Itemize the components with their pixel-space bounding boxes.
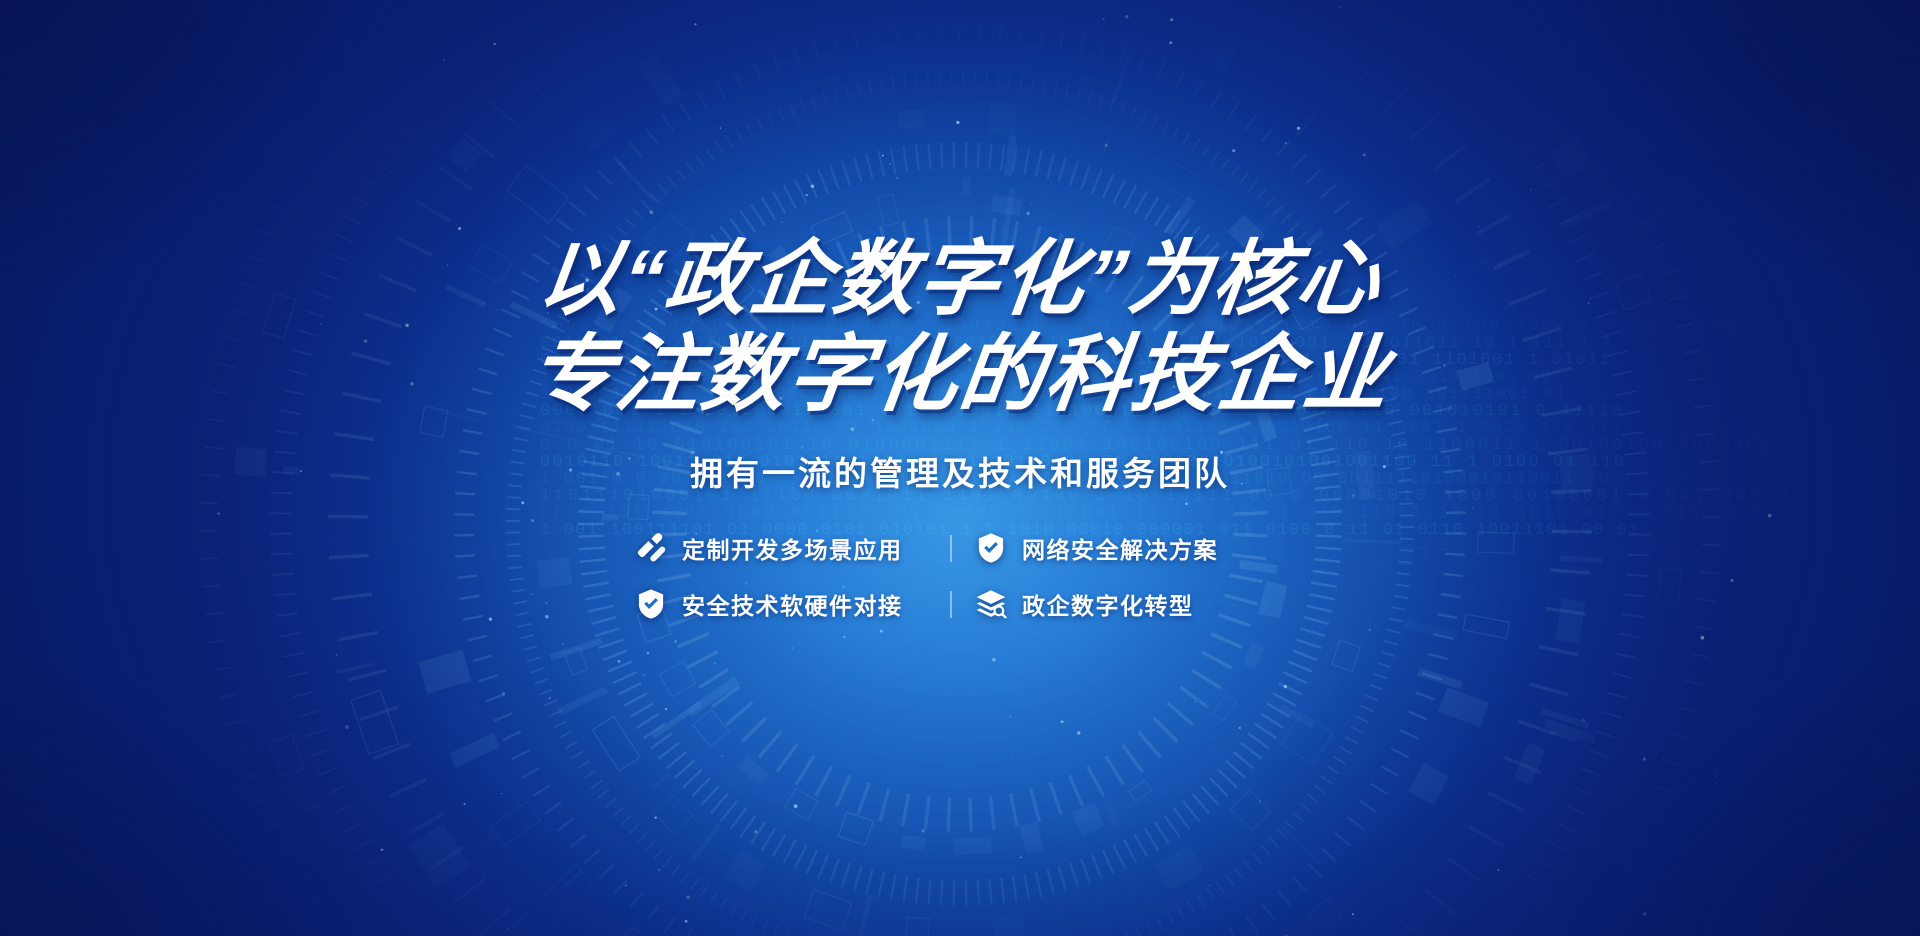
feature-item-custom-development[interactable]: 定制开发多场景应用 (634, 531, 946, 565)
subtitle: 拥有一流的管理及技术和服务团队 (690, 447, 1230, 495)
layers-search-icon (974, 587, 1008, 621)
headline-line-1: 以“政企数字化”为核心 (525, 238, 1395, 322)
feature-list: 定制开发多场景应用 网络安全解决方案 (634, 531, 1286, 621)
feature-item-digital-transformation[interactable]: 政企数字化转型 (974, 587, 1286, 621)
feature-label: 安全技术软硬件对接 (682, 587, 903, 621)
feature-label: 政企数字化转型 (1022, 587, 1194, 621)
feature-label: 定制开发多场景应用 (682, 531, 903, 565)
shield-check-icon (974, 531, 1008, 565)
headline-block: 以“政企数字化”为核心 专注数字化的科技企业 (530, 238, 1390, 417)
feature-row: 定制开发多场景应用 网络安全解决方案 (634, 531, 1286, 565)
feature-label: 网络安全解决方案 (1022, 531, 1218, 565)
feature-row: 安全技术软硬件对接 政企数字化转型 (634, 587, 1286, 621)
headline-line-2: 专注数字化的科技企业 (525, 332, 1396, 418)
pencil-tools-icon (634, 531, 668, 565)
feature-divider (950, 591, 952, 618)
shield-check-icon (634, 587, 668, 621)
feature-item-security-integration[interactable]: 安全技术软硬件对接 (634, 587, 946, 621)
banner-content: 以“政企数字化”为核心 专注数字化的科技企业 拥有一流的管理及技术和服务团队 定… (0, 0, 1920, 936)
feature-item-network-security[interactable]: 网络安全解决方案 (974, 531, 1286, 565)
hero-banner: 1 00110 101 11 00 111 00 000111100101001… (0, 0, 1920, 936)
feature-divider (950, 535, 952, 562)
